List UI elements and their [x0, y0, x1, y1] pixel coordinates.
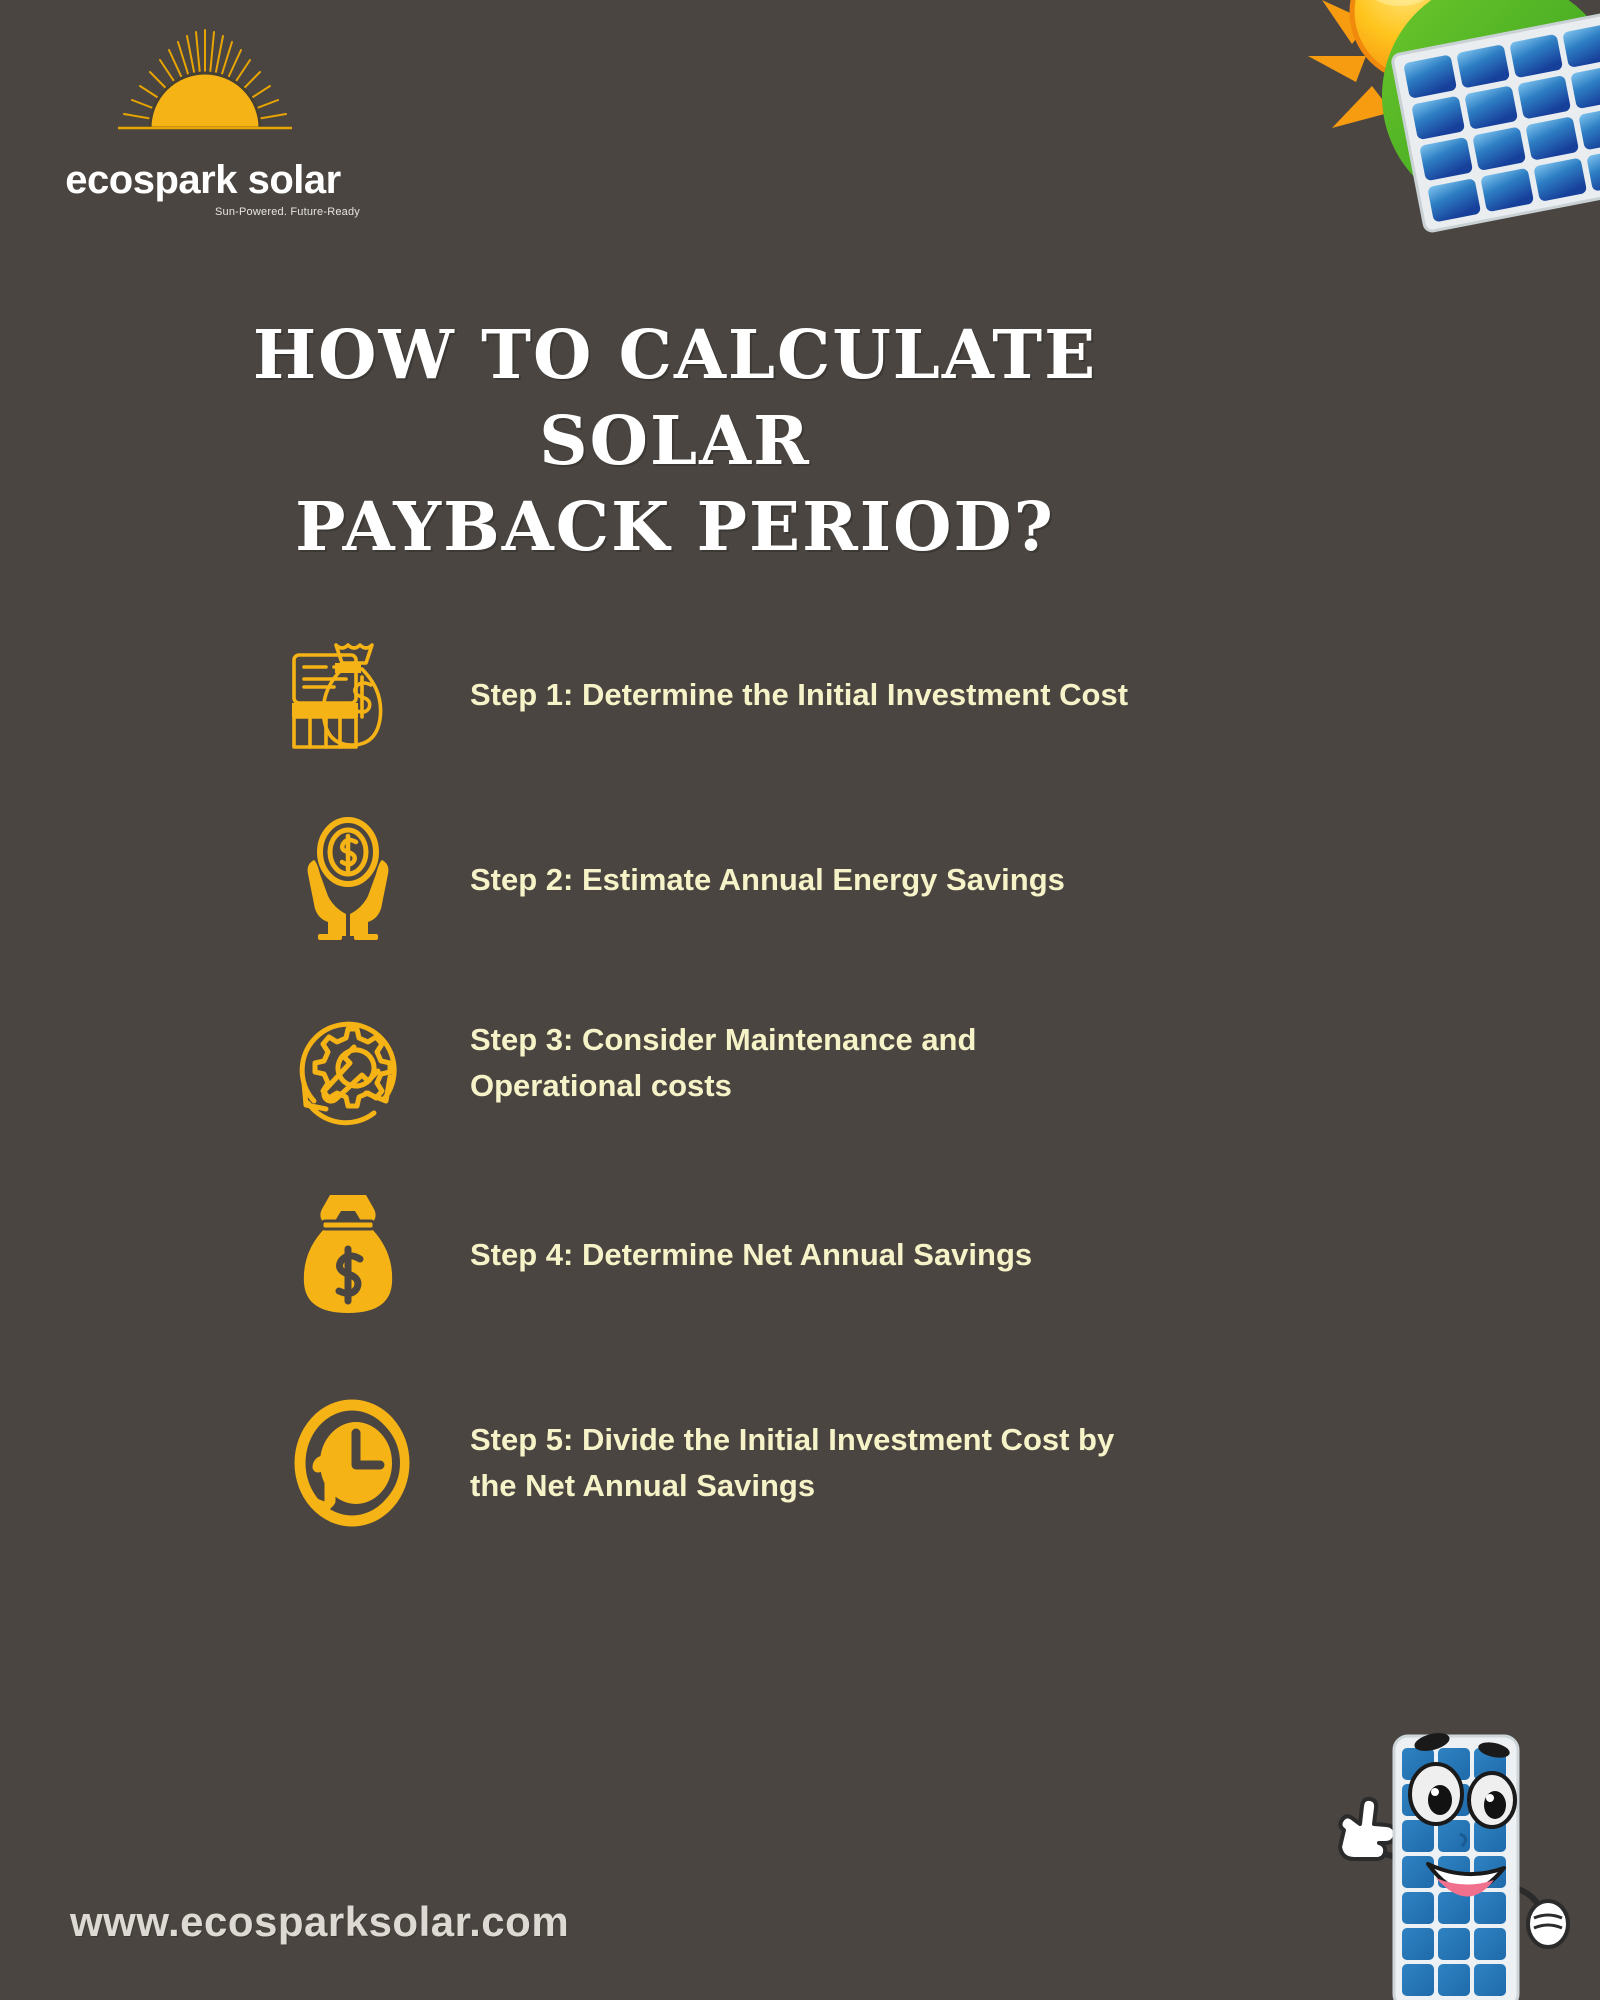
- brand-tagline: Sun-Powered. Future-Ready: [38, 206, 368, 218]
- sunburst-icon: [110, 28, 300, 136]
- brand-name: ecospark solar: [38, 160, 368, 200]
- page-title-line1: HOW TO CALCULATE SOLAR: [110, 312, 1240, 484]
- step-text: Step 3: Consider Maintenance and Operati…: [470, 1017, 1130, 1108]
- list-item: Step 1: Determine the Initial Investment…: [0, 600, 1600, 790]
- list-item: Step 5: Divide the Initial Investment Co…: [0, 1355, 1600, 1570]
- solar-panel-mascot-thumbs-up-icon: [1290, 1706, 1590, 2000]
- money-bag-icon: [278, 1185, 418, 1325]
- step-text: Step 1: Determine the Initial Investment…: [470, 672, 1130, 718]
- clock-arrow-icon: [278, 1393, 418, 1533]
- step-text: Step 4: Determine Net Annual Savings: [470, 1232, 1130, 1278]
- page-title: HOW TO CALCULATE SOLAR PAYBACK PERIOD?: [110, 312, 1240, 569]
- steps-list: Step 1: Determine the Initial Investment…: [0, 600, 1600, 1570]
- list-item: Step 4: Determine Net Annual Savings: [0, 1155, 1600, 1355]
- step-text: Step 2: Estimate Annual Energy Savings: [470, 857, 1130, 903]
- gear-wrench-refresh-icon: [278, 993, 418, 1133]
- list-item: Step 3: Consider Maintenance and Operati…: [0, 970, 1600, 1155]
- hands-holding-coin-icon: [278, 810, 418, 950]
- step-text: Step 5: Divide the Initial Investment Co…: [470, 1417, 1130, 1508]
- infographic-page: ecospark solar Sun-Powered. Future-Ready: [0, 0, 1600, 2000]
- page-title-line2: PAYBACK PERIOD?: [110, 484, 1240, 570]
- brand-logo: ecospark solar Sun-Powered. Future-Ready: [38, 28, 368, 208]
- invoice-money-bag-icon: [278, 625, 418, 765]
- sun-panel-globe-graphic: [1274, 0, 1600, 260]
- list-item: Step 2: Estimate Annual Energy Savings: [0, 790, 1600, 970]
- website-url[interactable]: www.ecosparksolar.com: [70, 1898, 569, 1946]
